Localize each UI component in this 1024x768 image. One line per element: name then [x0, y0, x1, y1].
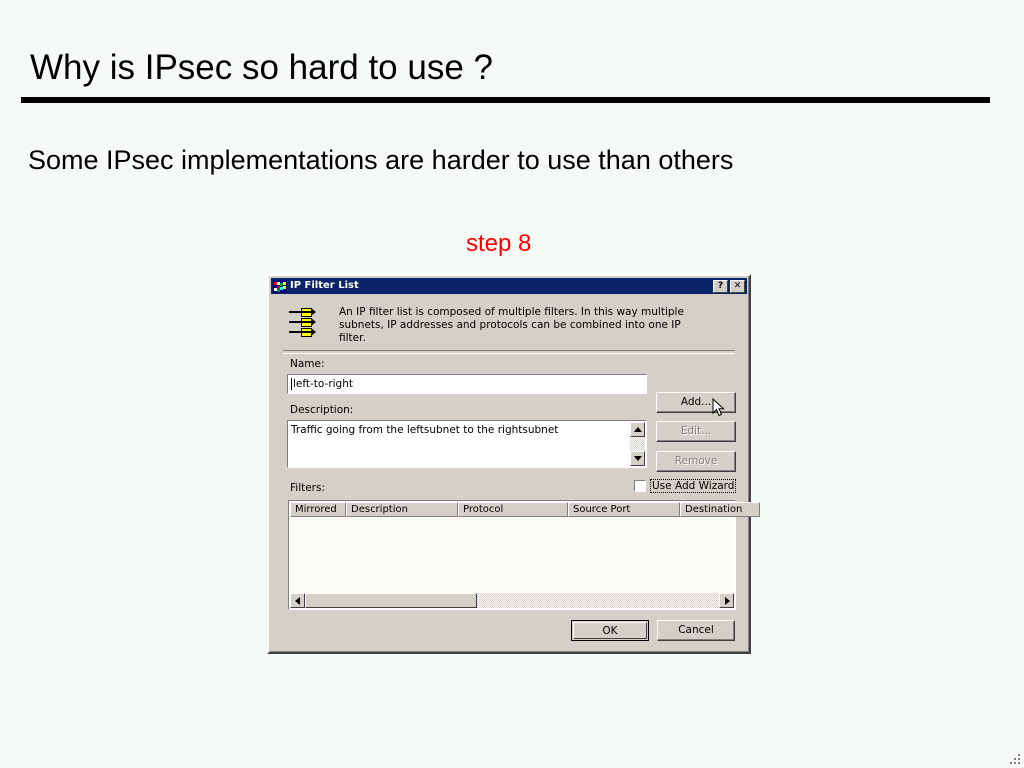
- name-input-value: left-to-right: [293, 378, 353, 390]
- text-caret: [291, 378, 292, 390]
- dialog-titlebar[interactable]: IP Filter List ? ✕: [271, 278, 747, 294]
- ok-button-label: OK: [573, 622, 647, 639]
- use-add-wizard-checkbox[interactable]: Use Add Wizard: [634, 479, 736, 493]
- filters-listview[interactable]: Mirrored Description Protocol Source Por…: [288, 500, 736, 610]
- hscroll-thumb[interactable]: [305, 593, 477, 608]
- listview-body[interactable]: [290, 517, 734, 593]
- column-header-protocol[interactable]: Protocol: [458, 502, 568, 517]
- column-header-description[interactable]: Description: [346, 502, 458, 517]
- name-label: Name:: [290, 358, 325, 370]
- section-divider: [283, 350, 735, 354]
- description-label: Description:: [290, 404, 353, 416]
- add-button[interactable]: Add...: [656, 392, 736, 413]
- slide-subtitle: Some IPsec implementations are harder to…: [28, 145, 733, 176]
- hscroll-track[interactable]: [305, 593, 719, 608]
- scroll-down-icon[interactable]: [630, 451, 645, 466]
- close-icon[interactable]: ✕: [730, 280, 745, 293]
- dialog-title: IP Filter List: [290, 279, 711, 293]
- ip-filter-graphic-icon: [289, 308, 317, 338]
- title-divider: [21, 97, 990, 103]
- ip-filter-list-icon: [273, 280, 287, 293]
- scroll-left-icon[interactable]: [290, 593, 305, 608]
- description-input-value: Traffic going from the leftsubnet to the…: [291, 424, 558, 436]
- step-label: step 8: [466, 230, 531, 258]
- scroll-up-icon[interactable]: [630, 422, 645, 437]
- column-header-mirrored[interactable]: Mirrored: [290, 502, 346, 517]
- edit-button: Edit...: [656, 421, 736, 442]
- resize-grip-icon[interactable]: [1008, 752, 1021, 765]
- listview-header: Mirrored Description Protocol Source Por…: [290, 502, 734, 517]
- column-header-destination[interactable]: Destination: [680, 502, 760, 517]
- dialog-info-row: An IP filter list is composed of multipl…: [283, 306, 735, 345]
- dialog-description-text: An IP filter list is composed of multipl…: [339, 306, 699, 345]
- description-input[interactable]: Traffic going from the leftsubnet to the…: [287, 420, 647, 468]
- cancel-button[interactable]: Cancel: [657, 620, 735, 641]
- column-header-source-port[interactable]: Source Port: [568, 502, 680, 517]
- scroll-track[interactable]: [630, 437, 645, 451]
- filters-label: Filters:: [290, 482, 325, 494]
- checkbox-box-icon[interactable]: [634, 480, 646, 492]
- page-title: Why is IPsec so hard to use ?: [30, 48, 493, 88]
- name-input[interactable]: left-to-right: [287, 374, 647, 394]
- ok-button[interactable]: OK: [571, 620, 649, 641]
- description-vertical-scrollbar[interactable]: [630, 422, 645, 466]
- filters-horizontal-scrollbar[interactable]: [290, 593, 734, 608]
- help-button[interactable]: ?: [713, 280, 728, 293]
- scroll-right-icon[interactable]: [719, 593, 734, 608]
- use-add-wizard-label: Use Add Wizard: [650, 479, 736, 493]
- remove-button: Remove: [656, 451, 736, 472]
